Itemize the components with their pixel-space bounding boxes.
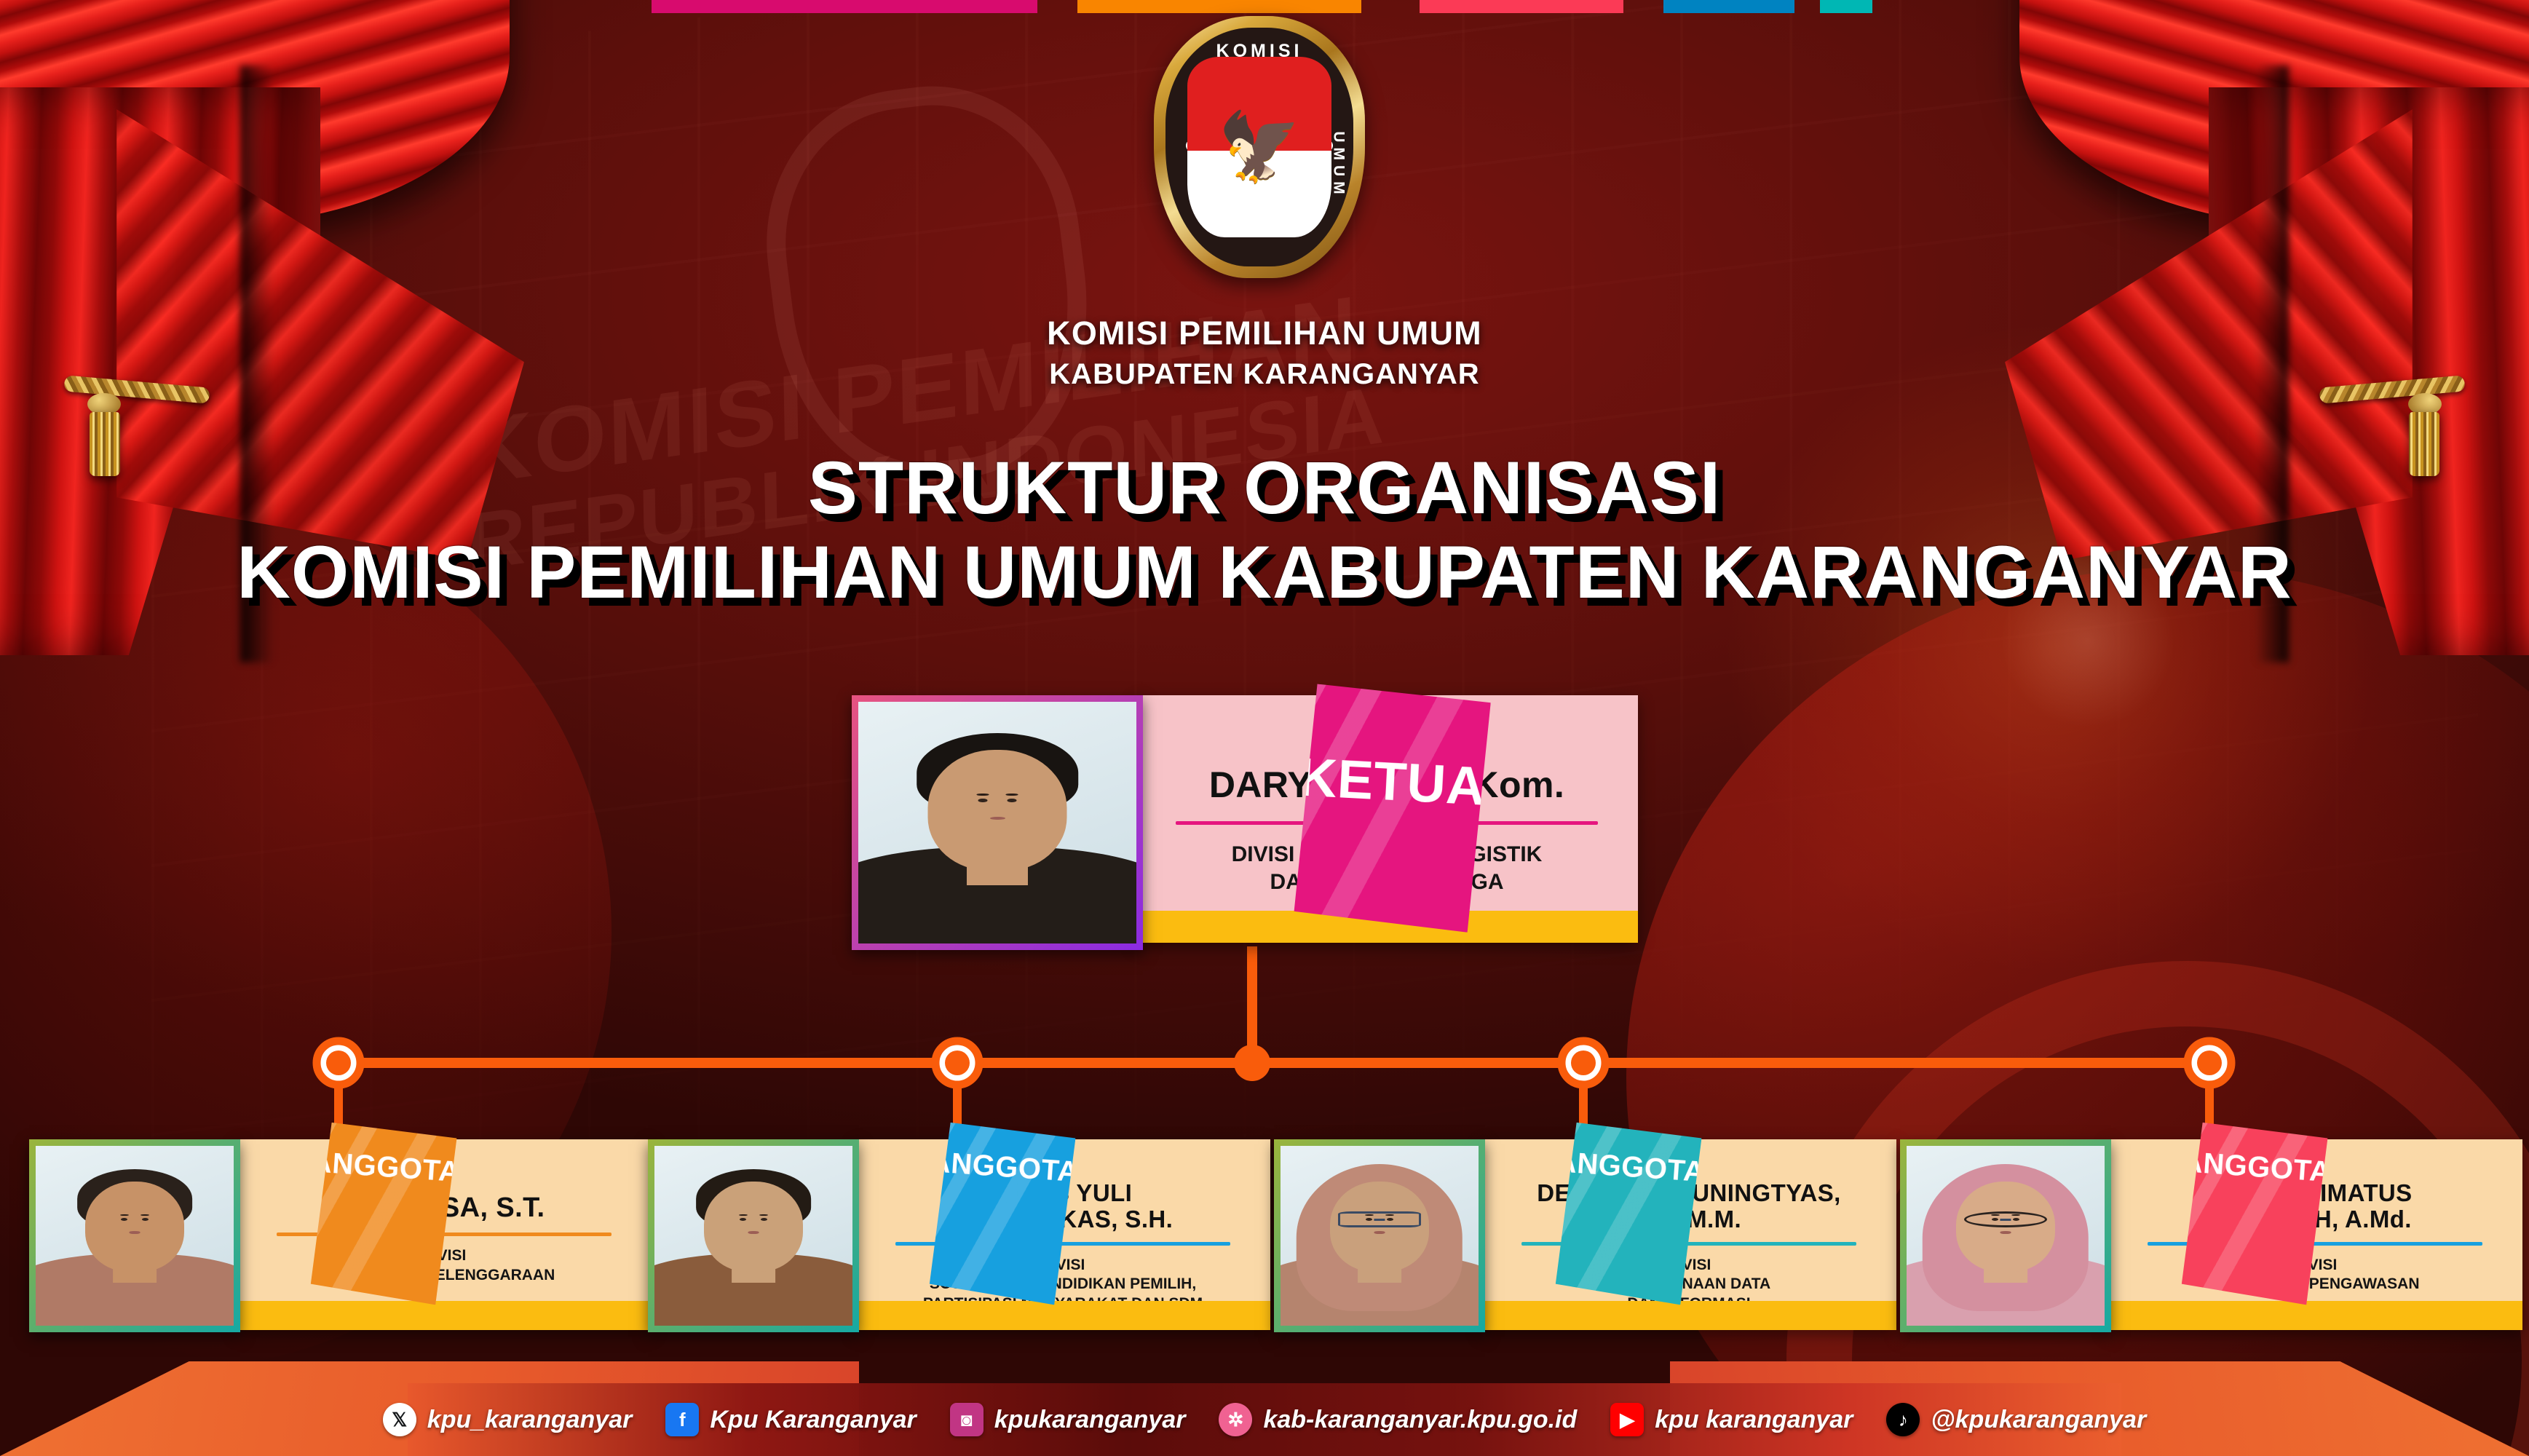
member-photo-frame: [1274, 1139, 1485, 1332]
member-photo: [1907, 1146, 2105, 1326]
role-badge: ANGGOTA: [307, 1122, 457, 1306]
member-card-1[interactable]: SANTOSA, S.T. DIVISITEKNIS PENYELENGGARA…: [29, 1139, 655, 1340]
social-links-row: 𝕏kpu_karanganyarfKpu Karanganyar◙kpukara…: [0, 1383, 2529, 1456]
connector-node-fill-1: [326, 1051, 351, 1075]
portrait-photo: [1281, 1146, 1479, 1326]
member-division-line-1: DIVISI: [256, 1246, 633, 1266]
tiktok-icon[interactable]: ♪: [1886, 1403, 1920, 1436]
member-division-line-1: DIVISI: [2126, 1256, 2504, 1275]
card-yellow-bar: [237, 1301, 652, 1330]
youtube-icon[interactable]: ▶: [1610, 1403, 1644, 1436]
member-photo: [1281, 1146, 1479, 1326]
eyeglasses-icon: [1338, 1211, 1421, 1227]
role-badge-label: KETUA: [1297, 745, 1487, 817]
facebook-icon[interactable]: f: [665, 1403, 699, 1436]
card-yellow-bar: [2107, 1301, 2522, 1330]
member-division-line-1: DIVISI: [874, 1256, 1251, 1275]
role-badge: KETUA: [1290, 683, 1492, 933]
social-handle-label: kpu karanganyar: [1655, 1406, 1853, 1434]
member-photo-frame: [648, 1139, 859, 1332]
member-card-4[interactable]: SITI HALIMATUSSA’DIYAH, A.Md. DIVISIHUKU…: [1900, 1139, 2526, 1340]
member-card-3[interactable]: DEVID WAHYUNINGTYAS,SP., M.M. DIVISIPERE…: [1274, 1139, 1900, 1340]
member-photo: [858, 702, 1136, 943]
x-twitter-icon[interactable]: 𝕏: [383, 1403, 416, 1436]
portrait-photo: [1907, 1146, 2105, 1326]
connector-center-node: [1234, 1045, 1270, 1081]
social-link-website-globe[interactable]: ✲kab-karanganyar.kpu.go.id: [1219, 1403, 1577, 1436]
portrait-photo: [858, 702, 1136, 943]
member-division-line-1: DIVISI: [1500, 1256, 1877, 1275]
social-handle-label: kpukaranganyar: [994, 1406, 1186, 1434]
social-handle-label: @kpukaranganyar: [1931, 1406, 2146, 1434]
social-handle-label: kab-karanganyar.kpu.go.id: [1263, 1406, 1577, 1434]
social-link-youtube[interactable]: ▶kpu karanganyar: [1610, 1403, 1853, 1436]
member-photo-frame: [852, 695, 1143, 950]
social-link-x-twitter[interactable]: 𝕏kpu_karanganyar: [383, 1403, 633, 1436]
social-handle-label: kpu_karanganyar: [427, 1406, 633, 1434]
member-photo: [36, 1146, 234, 1326]
member-photo-frame: [1900, 1139, 2111, 1332]
role-badge: ANGGOTA: [926, 1122, 1076, 1306]
member-photo-frame: [29, 1139, 240, 1332]
role-badge: ANGGOTA: [1552, 1122, 1702, 1306]
portrait-photo: [654, 1146, 852, 1326]
instagram-icon[interactable]: ◙: [950, 1403, 983, 1436]
member-photo: [654, 1146, 852, 1326]
card-yellow-bar: [855, 1301, 1270, 1330]
connector-node-fill-2: [945, 1051, 970, 1075]
connector-node-fill-4: [2197, 1051, 2222, 1075]
social-link-instagram[interactable]: ◙kpukaranganyar: [950, 1403, 1186, 1436]
social-link-facebook[interactable]: fKpu Karanganyar: [665, 1403, 916, 1436]
chair-card[interactable]: DARYONO, S.I.Kom. DIVISI KEUANGAN, LOGIS…: [852, 695, 1653, 950]
portrait-photo: [36, 1146, 234, 1326]
website-globe-icon[interactable]: ✲: [1219, 1403, 1252, 1436]
member-card-2[interactable]: ANDIS YULIPAMUNGKAS, S.H. DIVISISOSIALIS…: [648, 1139, 1274, 1340]
connector-node-fill-3: [1571, 1051, 1596, 1075]
role-badge: ANGGOTA: [2178, 1122, 2328, 1306]
social-link-tiktok[interactable]: ♪@kpukaranganyar: [1886, 1403, 2146, 1436]
card-yellow-bar: [1481, 1301, 1896, 1330]
social-footer: 𝕏kpu_karanganyarfKpu Karanganyar◙kpukara…: [0, 1361, 2529, 1456]
social-handle-label: Kpu Karanganyar: [710, 1406, 916, 1434]
